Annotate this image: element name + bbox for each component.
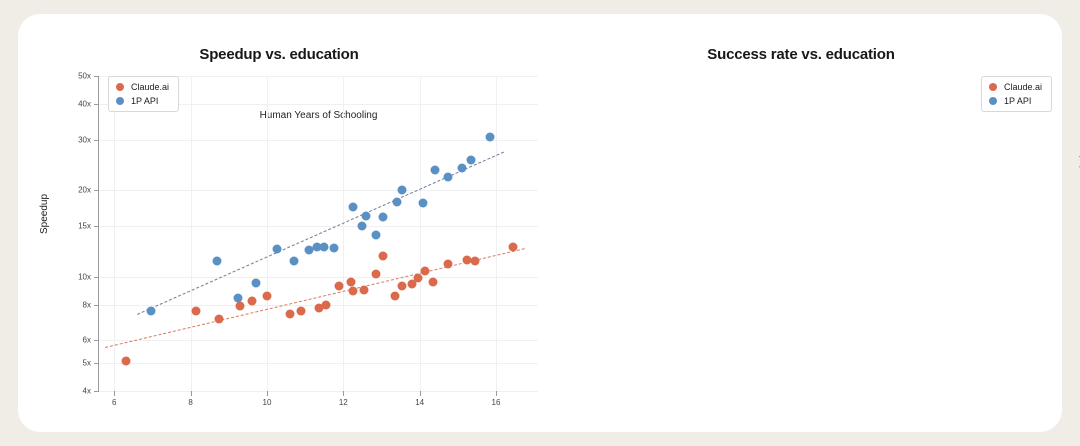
y-axis-tick-label: 30x (78, 135, 91, 144)
gridline-vertical (420, 76, 421, 391)
gridline-horizontal (99, 340, 538, 341)
data-point-api[interactable] (320, 242, 329, 251)
y-axis-tick-label: 5x (83, 359, 91, 368)
x-axis-tick (496, 391, 497, 396)
y-axis-tick-label: 10x (78, 272, 91, 281)
data-point-api[interactable] (213, 257, 222, 266)
x-axis-tick (343, 391, 344, 396)
data-point-api[interactable] (251, 279, 260, 288)
y-axis-tick-label: 40x (78, 99, 91, 108)
data-point-api[interactable] (430, 166, 439, 175)
legend-label-api: 1P API (131, 96, 158, 106)
data-point-api[interactable] (467, 156, 476, 165)
data-point-claude[interactable] (348, 287, 357, 296)
legend-item-claude[interactable]: Claude.ai (989, 82, 1042, 92)
data-point-api[interactable] (392, 198, 401, 207)
data-point-claude[interactable] (192, 306, 201, 315)
gridline-horizontal (99, 226, 538, 227)
gridline-horizontal (99, 140, 538, 141)
legend-swatch-api-icon (989, 97, 997, 105)
plot-area-speedup: Speedup Human Years of Schooling 4x5x6x8… (98, 76, 538, 392)
data-point-claude[interactable] (236, 302, 245, 311)
data-point-api[interactable] (457, 163, 466, 172)
data-point-claude[interactable] (262, 291, 271, 300)
data-point-claude[interactable] (285, 310, 294, 319)
y-axis-tick-label: 6x (83, 336, 91, 345)
trendline-claude (105, 248, 525, 348)
data-point-api[interactable] (234, 294, 243, 303)
x-axis-tick (420, 391, 421, 396)
data-point-claude[interactable] (421, 266, 430, 275)
data-point-claude[interactable] (297, 306, 306, 315)
legend-speedup[interactable]: Claude.ai 1P API (108, 76, 179, 112)
data-point-claude[interactable] (444, 259, 453, 268)
y-axis-tick (94, 340, 99, 341)
legend-item-api[interactable]: 1P API (116, 96, 169, 106)
data-point-api[interactable] (419, 198, 428, 207)
chart-panel-speedup: Speedup vs. education Speedup Human Year… (18, 14, 540, 432)
data-point-claude[interactable] (360, 285, 369, 294)
data-point-claude[interactable] (346, 277, 355, 286)
data-point-api[interactable] (358, 222, 367, 231)
y-axis-tick (94, 305, 99, 306)
legend-item-api[interactable]: 1P API (989, 96, 1042, 106)
y-axis-tick-label: 50x (78, 72, 91, 81)
data-point-api[interactable] (289, 257, 298, 266)
legend-swatch-claude-icon (116, 83, 124, 91)
y-axis-tick (94, 104, 99, 105)
data-point-claude[interactable] (371, 270, 380, 279)
chart-panel-success: Success rate vs. education Success Rate … (540, 14, 1062, 432)
data-point-claude[interactable] (509, 242, 518, 251)
data-point-api[interactable] (444, 173, 453, 182)
y-axis-tick (94, 76, 99, 77)
y-axis-title-speedup: Speedup (39, 193, 50, 233)
gridline-vertical (496, 76, 497, 391)
chart-card: Speedup vs. education Speedup Human Year… (18, 14, 1062, 432)
data-point-claude[interactable] (398, 281, 407, 290)
y-axis-tick (94, 140, 99, 141)
data-point-claude[interactable] (335, 281, 344, 290)
legend-label-claude: Claude.ai (131, 82, 169, 92)
data-point-claude[interactable] (471, 257, 480, 266)
gridline-horizontal (99, 190, 538, 191)
legend-label-api: 1P API (1004, 96, 1031, 106)
data-point-api[interactable] (329, 243, 338, 252)
data-point-claude[interactable] (429, 277, 438, 286)
legend-swatch-api-icon (116, 97, 124, 105)
y-axis-tick (94, 277, 99, 278)
data-point-claude[interactable] (215, 315, 224, 324)
x-axis-tick (191, 391, 192, 396)
data-point-api[interactable] (146, 306, 155, 315)
gridline-vertical (191, 76, 192, 391)
data-point-api[interactable] (379, 212, 388, 221)
data-point-api[interactable] (272, 244, 281, 253)
x-axis-tick (267, 391, 268, 396)
data-point-claude[interactable] (390, 291, 399, 300)
chart-title-success: Success rate vs. education (540, 46, 1062, 63)
gridline-horizontal (99, 363, 538, 364)
data-point-api[interactable] (486, 133, 495, 142)
y-axis-tick (94, 391, 99, 392)
legend-success[interactable]: Claude.ai 1P API (981, 76, 1052, 112)
y-axis-tick-label: 20x (78, 186, 91, 195)
gridline-vertical (343, 76, 344, 391)
legend-item-claude[interactable]: Claude.ai (116, 82, 169, 92)
y-axis-tick (94, 226, 99, 227)
data-point-claude[interactable] (247, 297, 256, 306)
data-point-api[interactable] (348, 202, 357, 211)
y-axis-tick (94, 190, 99, 191)
x-axis-tick-label: 16 (492, 398, 501, 407)
gridline-horizontal (99, 277, 538, 278)
data-point-api[interactable] (398, 185, 407, 194)
legend-swatch-claude-icon (989, 83, 997, 91)
x-axis-tick-label: 12 (339, 398, 348, 407)
data-point-api[interactable] (371, 230, 380, 239)
y-axis-tick (94, 363, 99, 364)
chart-title-speedup: Speedup vs. education (18, 46, 540, 63)
data-point-api[interactable] (362, 211, 371, 220)
gridline-vertical (267, 76, 268, 391)
x-axis-tick-label: 8 (188, 398, 192, 407)
x-axis-tick-label: 6 (112, 398, 116, 407)
data-point-claude[interactable] (379, 252, 388, 261)
y-axis-tick-label: 4x (83, 387, 91, 396)
x-axis-tick-label: 10 (263, 398, 272, 407)
data-point-claude[interactable] (413, 273, 422, 282)
data-point-claude[interactable] (322, 300, 331, 309)
x-axis-tick (114, 391, 115, 396)
x-axis-tick-label: 14 (415, 398, 424, 407)
legend-label-claude: Claude.ai (1004, 82, 1042, 92)
y-axis-tick-label: 15x (78, 222, 91, 231)
y-axis-tick-label: 8x (83, 300, 91, 309)
data-point-claude[interactable] (121, 356, 130, 365)
gridline-horizontal (99, 391, 538, 392)
